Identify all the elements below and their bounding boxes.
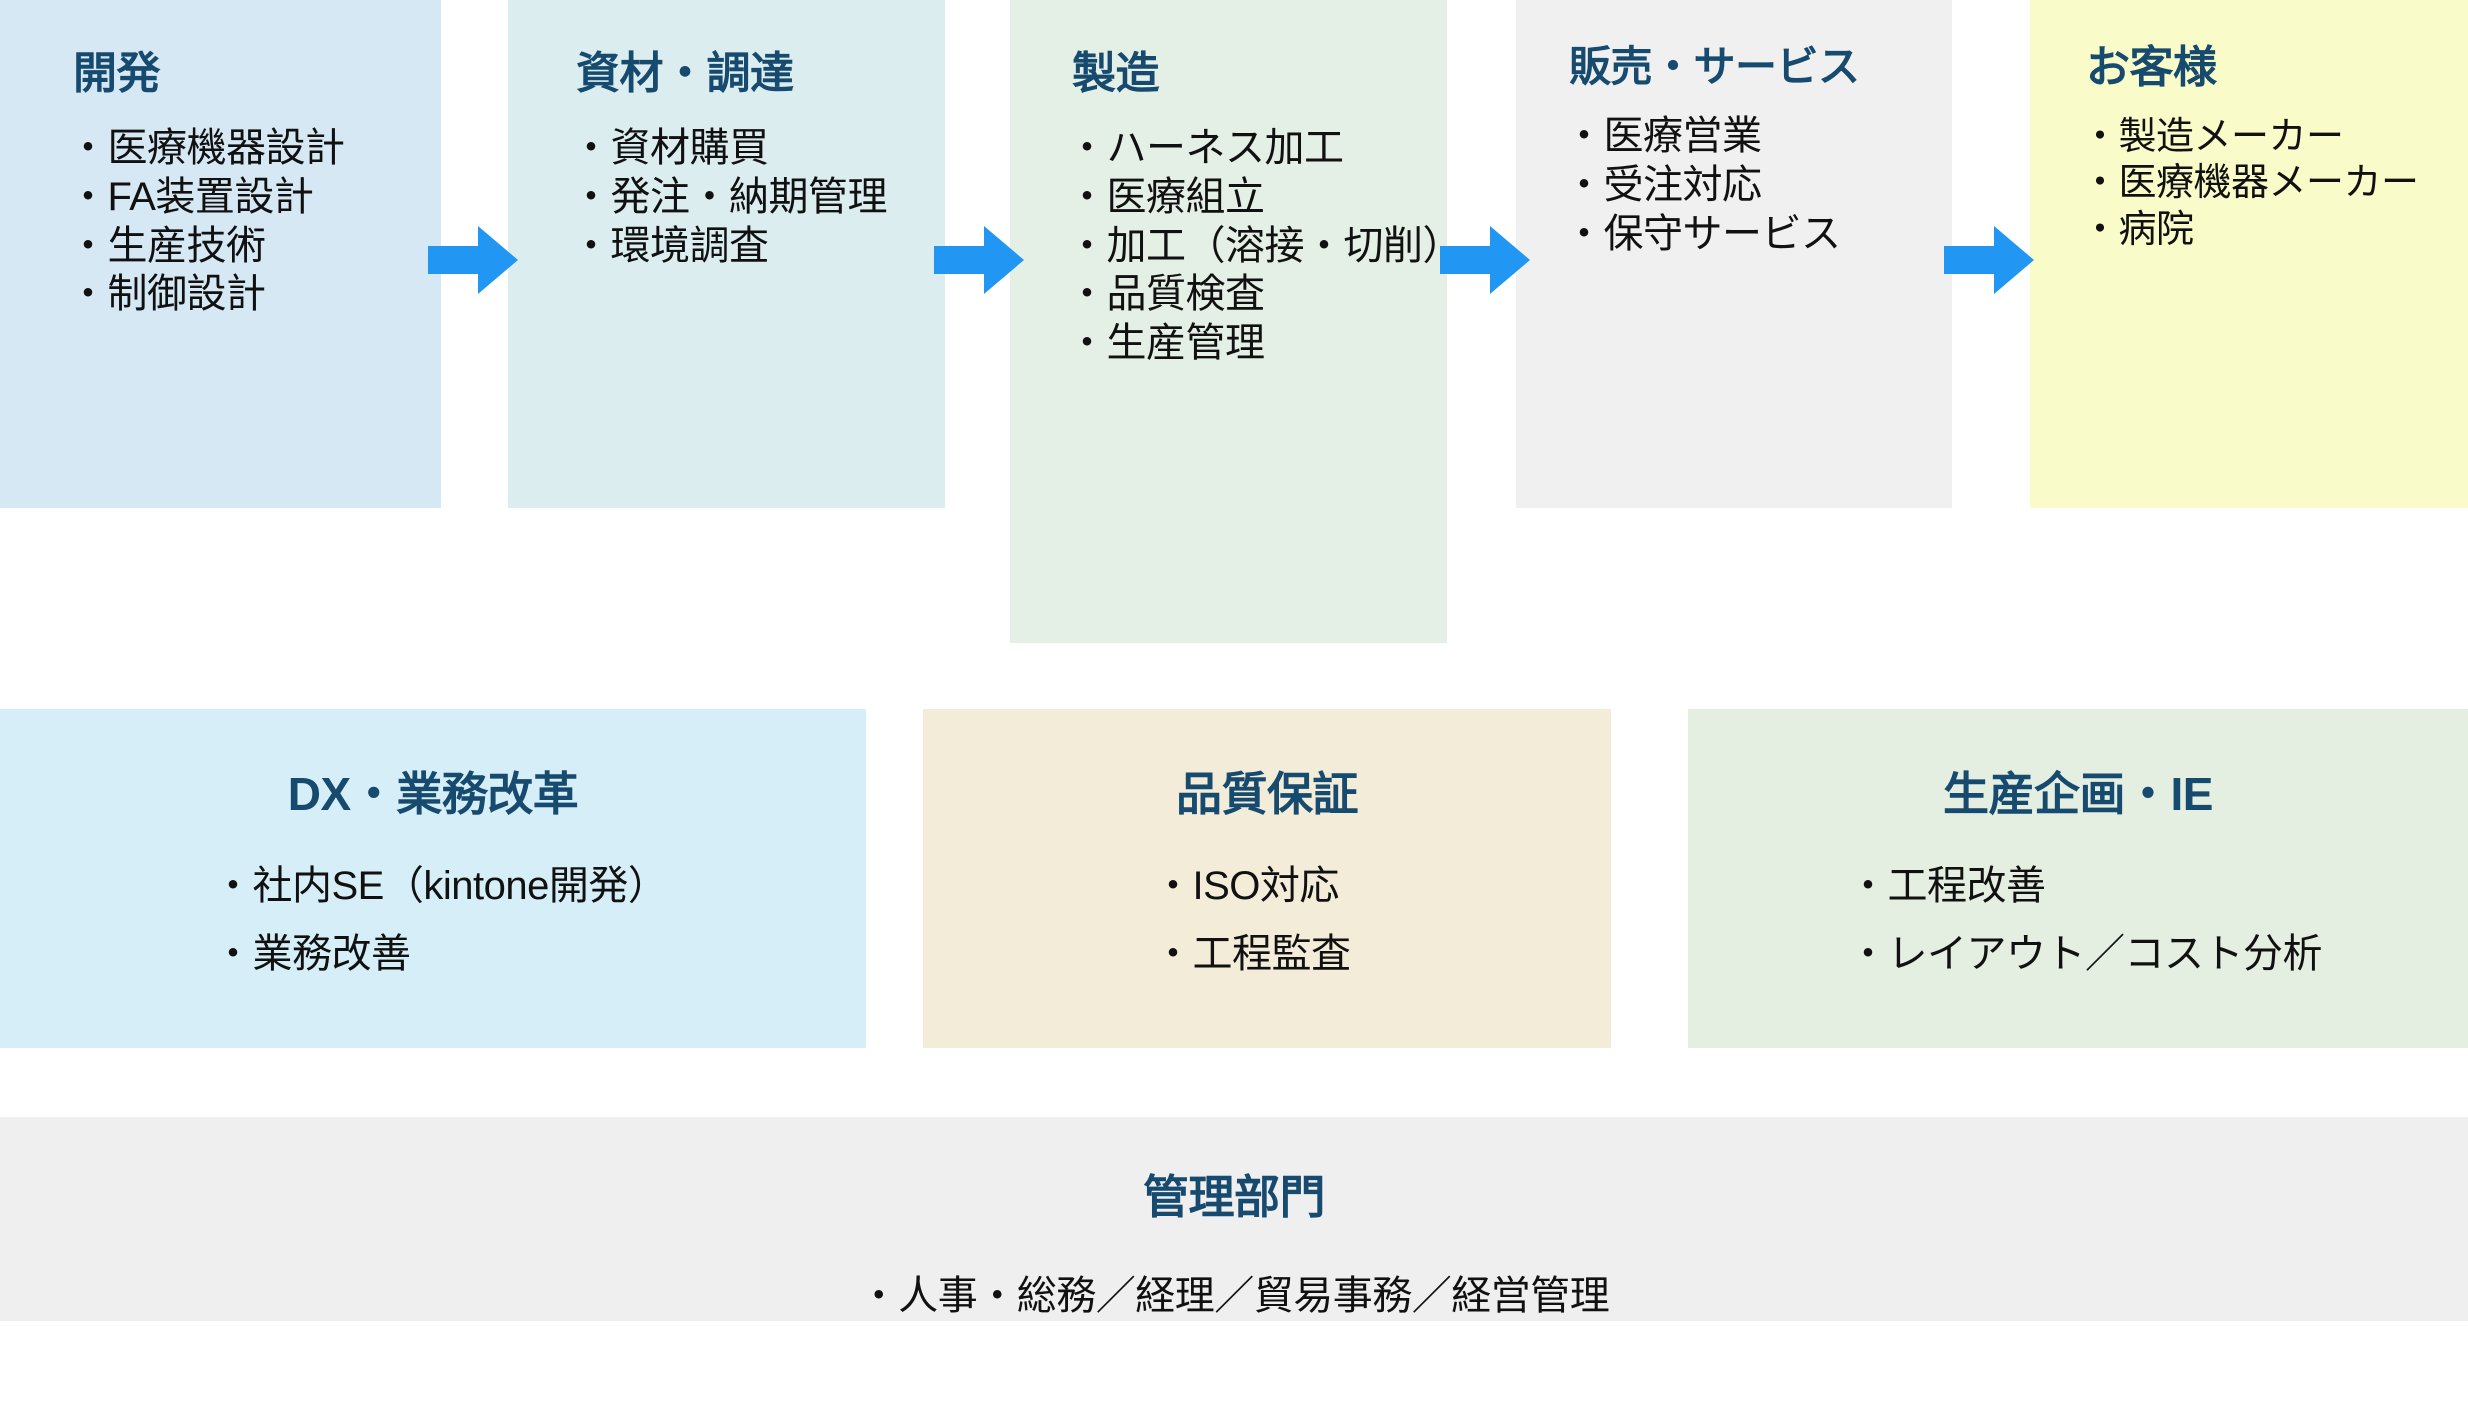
support-item: ・工程改善 (1848, 865, 2468, 907)
stage-card-development: 開発 ・医療機器設計 ・FA装置設計 ・生産技術 ・制御設計 (0, 0, 441, 508)
arrow-right-icon (428, 222, 518, 298)
stage-title-customer: お客様 (2086, 46, 2468, 90)
arrow-right-icon (1944, 222, 2034, 298)
support-item: ・ISO対応 (1153, 865, 1611, 907)
stage-item: ・ハーネス加工 (1067, 124, 1447, 173)
stage-title-sales-service: 販売・サービス (1569, 46, 1952, 88)
support-item: ・レイアウト／コスト分析 (1848, 933, 2468, 975)
support-item-list-quality-assurance: ・ISO対応 ・工程監査 (1153, 865, 1611, 975)
stage-card-customer: お客様 ・製造メーカー ・医療機器メーカー ・病院 (2030, 0, 2468, 508)
stage-title-manufacturing: 製造 (1072, 52, 1447, 96)
arrow-right-icon (1440, 222, 1530, 298)
support-card-production-planning-ie: 生産企画・IE ・工程改善 ・レイアウト／コスト分析 (1688, 709, 2468, 1048)
support-item-list-production-planning-ie: ・工程改善 ・レイアウト／コスト分析 (1848, 865, 2468, 975)
support-card-dx: DX・業務改革 ・社内SE（kintone開発） ・業務改善 (0, 709, 866, 1048)
stage-item: ・生産管理 (1067, 319, 1447, 368)
support-title-dx: DX・業務改革 (0, 771, 866, 817)
stage-item: ・製造メーカー (2081, 114, 2468, 160)
administration-title: 管理部門 (0, 1161, 2468, 1227)
stage-item: ・品質検査 (1067, 270, 1447, 319)
stage-item: ・医療営業 (1564, 112, 1952, 161)
support-item: ・社内SE（kintone開発） (213, 865, 866, 907)
stage-title-procurement: 資材・調達 (576, 52, 945, 96)
administration-item: ・人事・総務／経理／貿易事務／経営管理 (0, 1263, 2468, 1321)
stage-item: ・環境調査 (571, 222, 945, 271)
stage-item-list-procurement: ・資材購買 ・発注・納期管理 ・環境調査 (571, 124, 945, 270)
support-item: ・業務改善 (213, 933, 866, 975)
support-item-list-dx: ・社内SE（kintone開発） ・業務改善 (213, 865, 866, 975)
stage-item: ・受注対応 (1564, 161, 1952, 210)
stage-item: ・医療機器設計 (68, 124, 441, 173)
stage-item: ・発注・納期管理 (571, 173, 945, 222)
stage-item: ・資材購買 (571, 124, 945, 173)
stage-item: ・制御設計 (68, 270, 441, 319)
stage-item-list-customer: ・製造メーカー ・医療機器メーカー ・病院 (2081, 114, 2468, 253)
stage-card-sales-service: 販売・サービス ・医療営業 ・受注対応 ・保守サービス (1516, 0, 1952, 508)
process-diagram: 開発 ・医療機器設計 ・FA装置設計 ・生産技術 ・制御設計 資材・調達 ・資材… (0, 0, 2468, 1418)
stage-title-development: 開発 (73, 52, 441, 96)
stage-item: ・FA装置設計 (68, 173, 441, 222)
administration-banner: 管理部門 ・人事・総務／経理／貿易事務／経営管理 (0, 1117, 2468, 1321)
stage-card-procurement: 資材・調達 ・資材購買 ・発注・納期管理 ・環境調査 (508, 0, 945, 508)
support-title-quality-assurance: 品質保証 (923, 771, 1611, 817)
stage-item: ・保守サービス (1564, 210, 1952, 259)
support-item: ・工程監査 (1153, 933, 1611, 975)
stage-item-list-manufacturing: ・ハーネス加工 ・医療組立 ・加工（溶接・切削） ・品質検査 ・生産管理 (1067, 124, 1447, 368)
stage-item: ・医療組立 (1067, 173, 1447, 222)
stage-item-list-sales-service: ・医療営業 ・受注対応 ・保守サービス (1564, 112, 1952, 258)
stage-item: ・医療機器メーカー (2081, 160, 2468, 206)
support-title-production-planning-ie: 生産企画・IE (1688, 771, 2468, 817)
arrow-right-icon (934, 222, 1024, 298)
stage-item-list-development: ・医療機器設計 ・FA装置設計 ・生産技術 ・制御設計 (68, 124, 441, 319)
stage-item: ・病院 (2081, 207, 2468, 253)
support-card-quality-assurance: 品質保証 ・ISO対応 ・工程監査 (923, 709, 1611, 1048)
stage-card-manufacturing: 製造 ・ハーネス加工 ・医療組立 ・加工（溶接・切削） ・品質検査 ・生産管理 (1010, 0, 1447, 643)
stage-item: ・生産技術 (68, 222, 441, 271)
stage-item: ・加工（溶接・切削） (1067, 222, 1447, 271)
